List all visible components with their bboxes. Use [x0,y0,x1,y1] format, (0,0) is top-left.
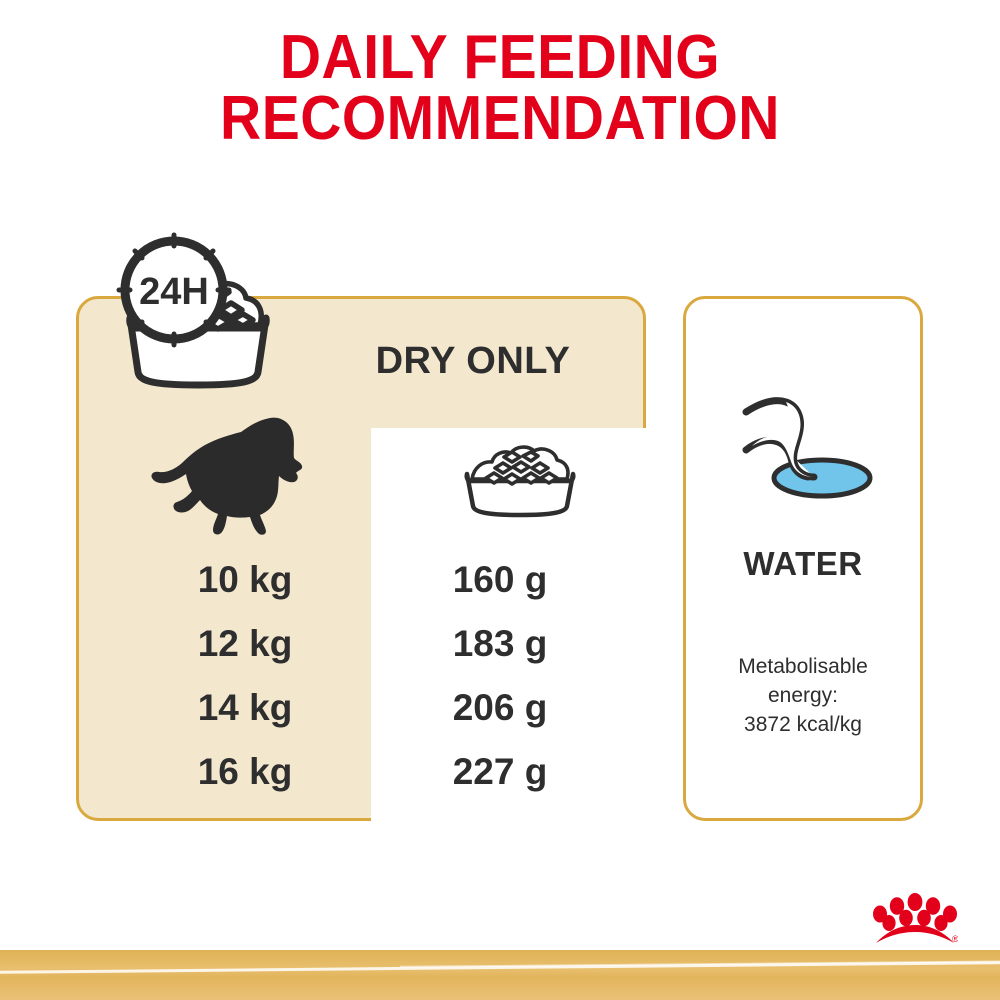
registered-mark: ® [952,934,958,944]
table-row: 183 g [400,612,600,676]
table-row: 227 g [400,740,600,804]
table-row: 160 g [400,548,600,612]
weight-column: 10 kg 12 kg 14 kg 16 kg [150,548,340,804]
page-title-line-1: DAILY FEEDING [40,28,960,89]
table-row: 206 g [400,676,600,740]
clock-24h-bowl-icon: 24H [98,232,298,402]
table-row: 10 kg [150,548,340,612]
dry-only-header: DRY ONLY [368,340,578,383]
water-label: WATER [683,545,923,583]
dog-drinking-water-icon [740,380,880,510]
metabolisable-energy-text: Metabolisable energy: 3872 kcal/kg [693,652,913,739]
royal-canin-crown-logo: ® [872,890,958,946]
kibble-bowl-icon [455,440,585,520]
feeding-recommendation-page: DAILY FEEDING RECOMMENDATION DRY ONLY [0,0,1000,1000]
cocker-spaniel-silhouette-icon [142,412,322,538]
table-row: 14 kg [150,676,340,740]
table-row: 16 kg [150,740,340,804]
page-title: DAILY FEEDING RECOMMENDATION [0,28,1000,150]
footer-gold-band [0,950,1000,1000]
energy-line-3: 3872 kcal/kg [693,710,913,739]
energy-line-2: energy: [693,681,913,710]
page-title-line-2: RECOMMENDATION [40,89,960,150]
energy-line-1: Metabolisable [693,652,913,681]
table-row: 12 kg [150,612,340,676]
amount-column: 160 g 183 g 206 g 227 g [400,548,600,804]
duration-badge-label: 24H [139,271,209,313]
